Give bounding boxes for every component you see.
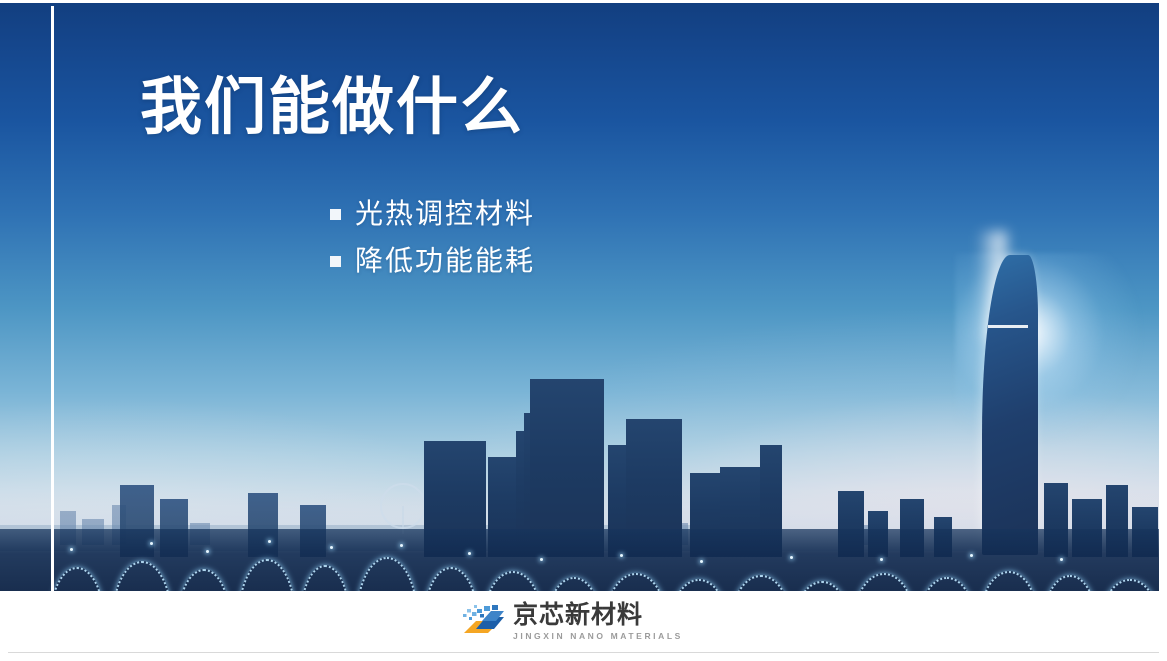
light-dot: [790, 556, 793, 559]
footer-rule: [8, 652, 1159, 653]
light-arc: [300, 565, 350, 591]
light-arc: [112, 561, 172, 591]
light-dot: [1060, 558, 1063, 561]
light-arc: [1102, 579, 1158, 591]
light-dot: [70, 548, 73, 551]
slide-title: 我们能做什么: [140, 75, 524, 142]
list-item: 光热调控材料: [330, 195, 535, 233]
light-arc: [980, 571, 1038, 591]
light-dot: [150, 542, 153, 545]
light-arc: [854, 573, 914, 591]
light-arc: [50, 567, 104, 591]
landmark-curved-tower: [982, 255, 1038, 555]
light-dot: [268, 540, 271, 543]
logo-wordmark: 京芯新材料 JINGXIN NANO MATERIALS: [513, 603, 683, 641]
light-arc: [732, 575, 790, 591]
light-arc: [672, 579, 726, 591]
hero-background-image: 我们能做什么 光热调控材料 降低功能能耗: [0, 3, 1159, 591]
light-arc: [1044, 575, 1096, 591]
light-arc: [484, 571, 542, 591]
light-arc: [606, 573, 666, 591]
jingxin-pixel-logo-icon: [460, 603, 504, 641]
light-dot: [970, 554, 973, 557]
light-arc: [238, 559, 296, 591]
light-arc: [796, 581, 848, 591]
bullet-item-label: 降低功能能耗: [355, 242, 535, 280]
light-dot: [620, 554, 623, 557]
bullet-item-label: 光热调控材料: [355, 195, 535, 233]
light-dot: [330, 546, 333, 549]
light-arc: [356, 557, 418, 591]
presentation-slide: 我们能做什么 光热调控材料 降低功能能耗: [0, 0, 1167, 661]
light-dot: [400, 544, 403, 547]
light-arc: [920, 577, 974, 591]
slide-footer: 京芯新材料 JINGXIN NANO MATERIALS: [0, 591, 1159, 652]
light-arc: [424, 567, 478, 591]
light-dot: [700, 560, 703, 563]
city-skyline: [0, 341, 1159, 591]
light-dot: [880, 558, 883, 561]
light-dot: [468, 552, 471, 555]
square-bullet-icon: [330, 256, 341, 267]
light-arc: [548, 577, 600, 591]
company-name-en: JINGXIN NANO MATERIALS: [513, 632, 683, 641]
light-arc: [178, 569, 230, 591]
square-bullet-icon: [330, 209, 341, 220]
company-name-cn: 京芯新材料: [513, 603, 683, 628]
light-trails: [0, 519, 1159, 591]
light-dot: [206, 550, 209, 553]
light-dot: [540, 558, 543, 561]
vertical-divider: [51, 6, 54, 591]
list-item: 降低功能能耗: [330, 242, 535, 280]
bullet-list: 光热调控材料 降低功能能耗: [330, 195, 535, 289]
company-logo: 京芯新材料 JINGXIN NANO MATERIALS: [460, 603, 683, 641]
